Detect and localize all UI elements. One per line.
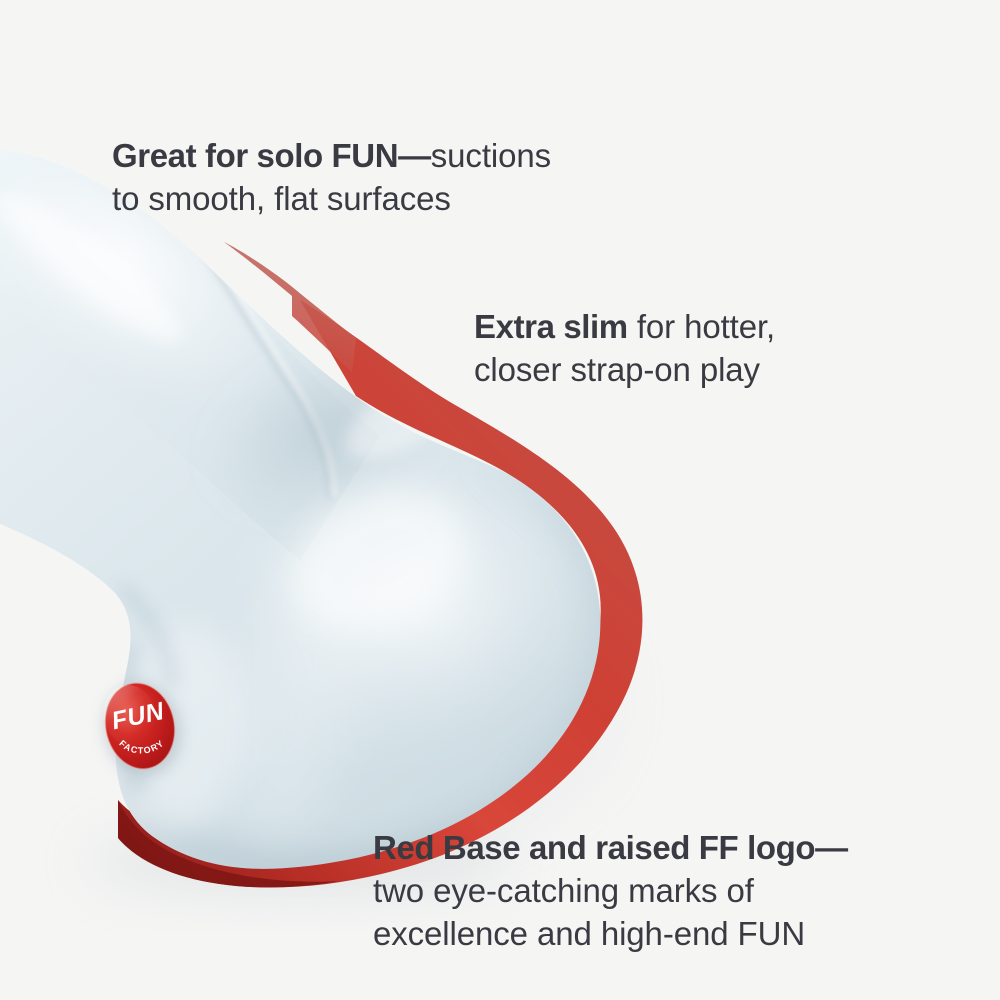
callout-red-base-rest: two eye-catching marks of excellence and… (373, 872, 805, 952)
callout-red-base: Red Base and raised FF logo— two eye-cat… (373, 784, 933, 956)
callout-extra-slim: Extra slim for hotter, closer strap-on p… (474, 263, 894, 392)
callout-red-base-lead: Red Base and raised FF logo— (373, 829, 848, 866)
callout-solo-fun: Great for solo FUN—suctions to smooth, f… (112, 92, 672, 221)
product-feature-image: FUN FACTORY Great for solo FUN—suctions … (0, 0, 1000, 1000)
callout-extra-slim-lead: Extra slim (474, 308, 628, 345)
callout-solo-fun-lead: Great for solo FUN— (112, 137, 431, 174)
